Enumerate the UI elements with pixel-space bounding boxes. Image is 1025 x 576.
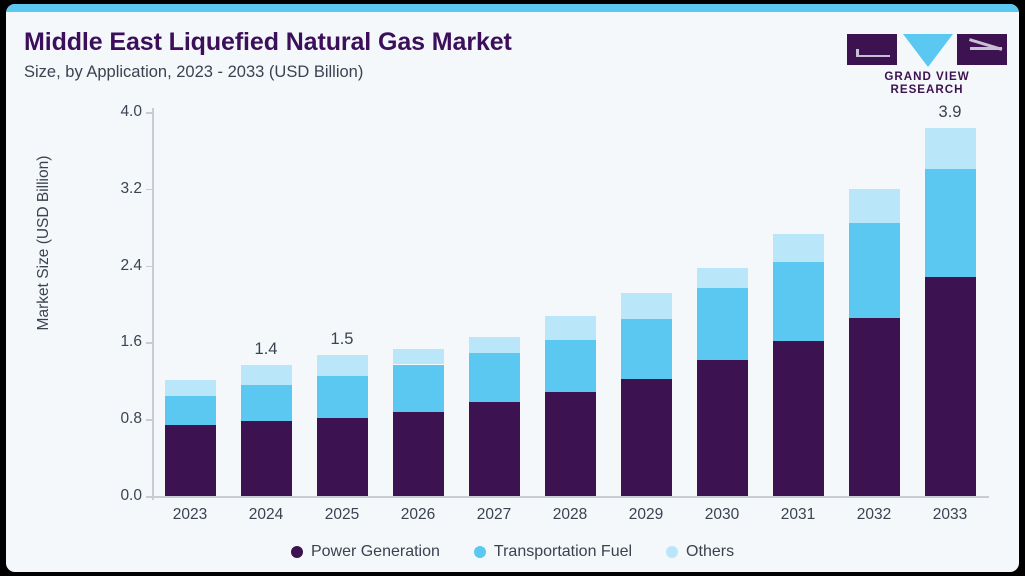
chart-subtitle: Size, by Application, 2023 - 2033 (USD B… <box>24 63 363 82</box>
y-axis-tick-label: 3.2 <box>98 180 142 198</box>
plot-area: 1.41.53.9 <box>152 112 988 496</box>
bar-segment-power-generation[interactable] <box>469 402 520 496</box>
x-axis-tick-label: 2023 <box>150 506 230 524</box>
bar-segment-power-generation[interactable] <box>165 425 216 496</box>
bar-segment-transportation-fuel[interactable] <box>849 223 900 318</box>
bar-segment-power-generation[interactable] <box>773 341 824 496</box>
chart-card: Middle East Liquefied Natural Gas Market… <box>6 4 1019 572</box>
logo-g-mark-icon <box>847 34 897 65</box>
bar-segment-others[interactable] <box>241 365 292 384</box>
bar-group[interactable] <box>165 380 216 496</box>
chart-legend: Power GenerationTransportation FuelOther… <box>6 538 1019 566</box>
bar-segment-others[interactable] <box>925 128 976 168</box>
bar-value-label: 1.4 <box>226 340 306 359</box>
x-axis-tick-label: 2026 <box>378 506 458 524</box>
bar-segment-transportation-fuel[interactable] <box>241 385 292 421</box>
legend-label: Transportation Fuel <box>494 543 632 561</box>
bar-group[interactable] <box>469 337 520 496</box>
x-axis-tick-label: 2029 <box>606 506 686 524</box>
bar-group[interactable] <box>545 316 596 496</box>
y-axis-tick-label: 1.6 <box>98 333 142 351</box>
bar-segment-transportation-fuel[interactable] <box>469 353 520 402</box>
x-axis-tick-label: 2025 <box>302 506 382 524</box>
bar-group[interactable] <box>697 268 748 496</box>
bar-segment-transportation-fuel[interactable] <box>165 396 216 425</box>
logo-g-vertical-bar <box>856 49 859 57</box>
bar-segment-others[interactable] <box>317 355 368 376</box>
logo-r-mark-icon <box>957 34 1007 65</box>
legend-swatch-icon <box>474 546 486 558</box>
chart-header: Middle East Liquefied Natural Gas Market… <box>6 12 1019 88</box>
legend-label: Power Generation <box>311 543 440 561</box>
y-axis-tick-label: 4.0 <box>98 103 142 121</box>
y-axis-tick-label: 0.8 <box>98 410 142 428</box>
bar-value-label: 1.5 <box>302 330 382 349</box>
logo-v-triangle-icon <box>903 34 953 67</box>
legend-item[interactable]: Transportation Fuel <box>474 543 632 561</box>
legend-item[interactable]: Others <box>666 543 734 561</box>
x-axis-tick-label: 2030 <box>682 506 762 524</box>
grand-view-research-logo: GRAND VIEW RESEARCH <box>847 29 1007 87</box>
legend-item[interactable]: Power Generation <box>291 543 440 561</box>
legend-label: Others <box>686 543 734 561</box>
bar-group[interactable] <box>773 234 824 496</box>
x-axis-tick-label: 2033 <box>910 506 990 524</box>
y-axis-tick-label: 0.0 <box>98 487 142 505</box>
bar-segment-others[interactable] <box>697 268 748 288</box>
bar-segment-others[interactable] <box>165 380 216 396</box>
bar-segment-transportation-fuel[interactable] <box>545 340 596 393</box>
bar-segment-transportation-fuel[interactable] <box>697 288 748 360</box>
legend-swatch-icon <box>666 546 678 558</box>
bar-segment-power-generation[interactable] <box>849 318 900 496</box>
bar-group[interactable] <box>849 189 900 496</box>
chart-title: Middle East Liquefied Natural Gas Market <box>24 28 512 57</box>
bar-segment-power-generation[interactable] <box>697 360 748 496</box>
bar-segment-others[interactable] <box>393 349 444 364</box>
top-accent-bar <box>6 4 1019 12</box>
bar-segment-power-generation[interactable] <box>545 392 596 496</box>
bar-group[interactable]: 3.9 <box>925 128 976 496</box>
bar-value-label: 3.9 <box>910 103 990 122</box>
bar-group[interactable]: 1.4 <box>241 365 292 496</box>
bar-segment-power-generation[interactable] <box>393 412 444 496</box>
y-axis-title: Market Size (USD Billion) <box>35 93 53 393</box>
y-axis-tick-label: 2.4 <box>98 257 142 275</box>
bar-segment-others[interactable] <box>545 316 596 340</box>
bar-segment-others[interactable] <box>621 293 672 319</box>
bar-segment-transportation-fuel[interactable] <box>773 262 824 342</box>
bar-segment-transportation-fuel[interactable] <box>393 365 444 412</box>
bar-segment-power-generation[interactable] <box>621 379 672 496</box>
bar-group[interactable]: 1.5 <box>317 355 368 496</box>
bar-segment-others[interactable] <box>469 337 520 353</box>
y-axis-tick-mark <box>146 496 152 498</box>
bar-segment-transportation-fuel[interactable] <box>925 169 976 277</box>
x-axis-line <box>152 496 989 498</box>
bar-segment-power-generation[interactable] <box>317 418 368 496</box>
x-axis-tick-label: 2027 <box>454 506 534 524</box>
bar-segment-power-generation[interactable] <box>241 421 292 496</box>
bar-group[interactable] <box>393 349 444 496</box>
logo-g-horizontal-bar <box>856 55 890 58</box>
bar-segment-transportation-fuel[interactable] <box>621 319 672 379</box>
logo-wordmark: GRAND VIEW RESEARCH <box>847 70 1007 96</box>
x-axis-tick-label: 2031 <box>758 506 838 524</box>
legend-swatch-icon <box>291 546 303 558</box>
bar-group[interactable] <box>621 293 672 496</box>
bar-segment-others[interactable] <box>773 234 824 262</box>
bar-segment-power-generation[interactable] <box>925 277 976 496</box>
x-axis-tick-label: 2024 <box>226 506 306 524</box>
x-axis-tick-label: 2028 <box>530 506 610 524</box>
bar-segment-others[interactable] <box>849 189 900 224</box>
bar-segment-transportation-fuel[interactable] <box>317 376 368 418</box>
x-axis-tick-label: 2032 <box>834 506 914 524</box>
